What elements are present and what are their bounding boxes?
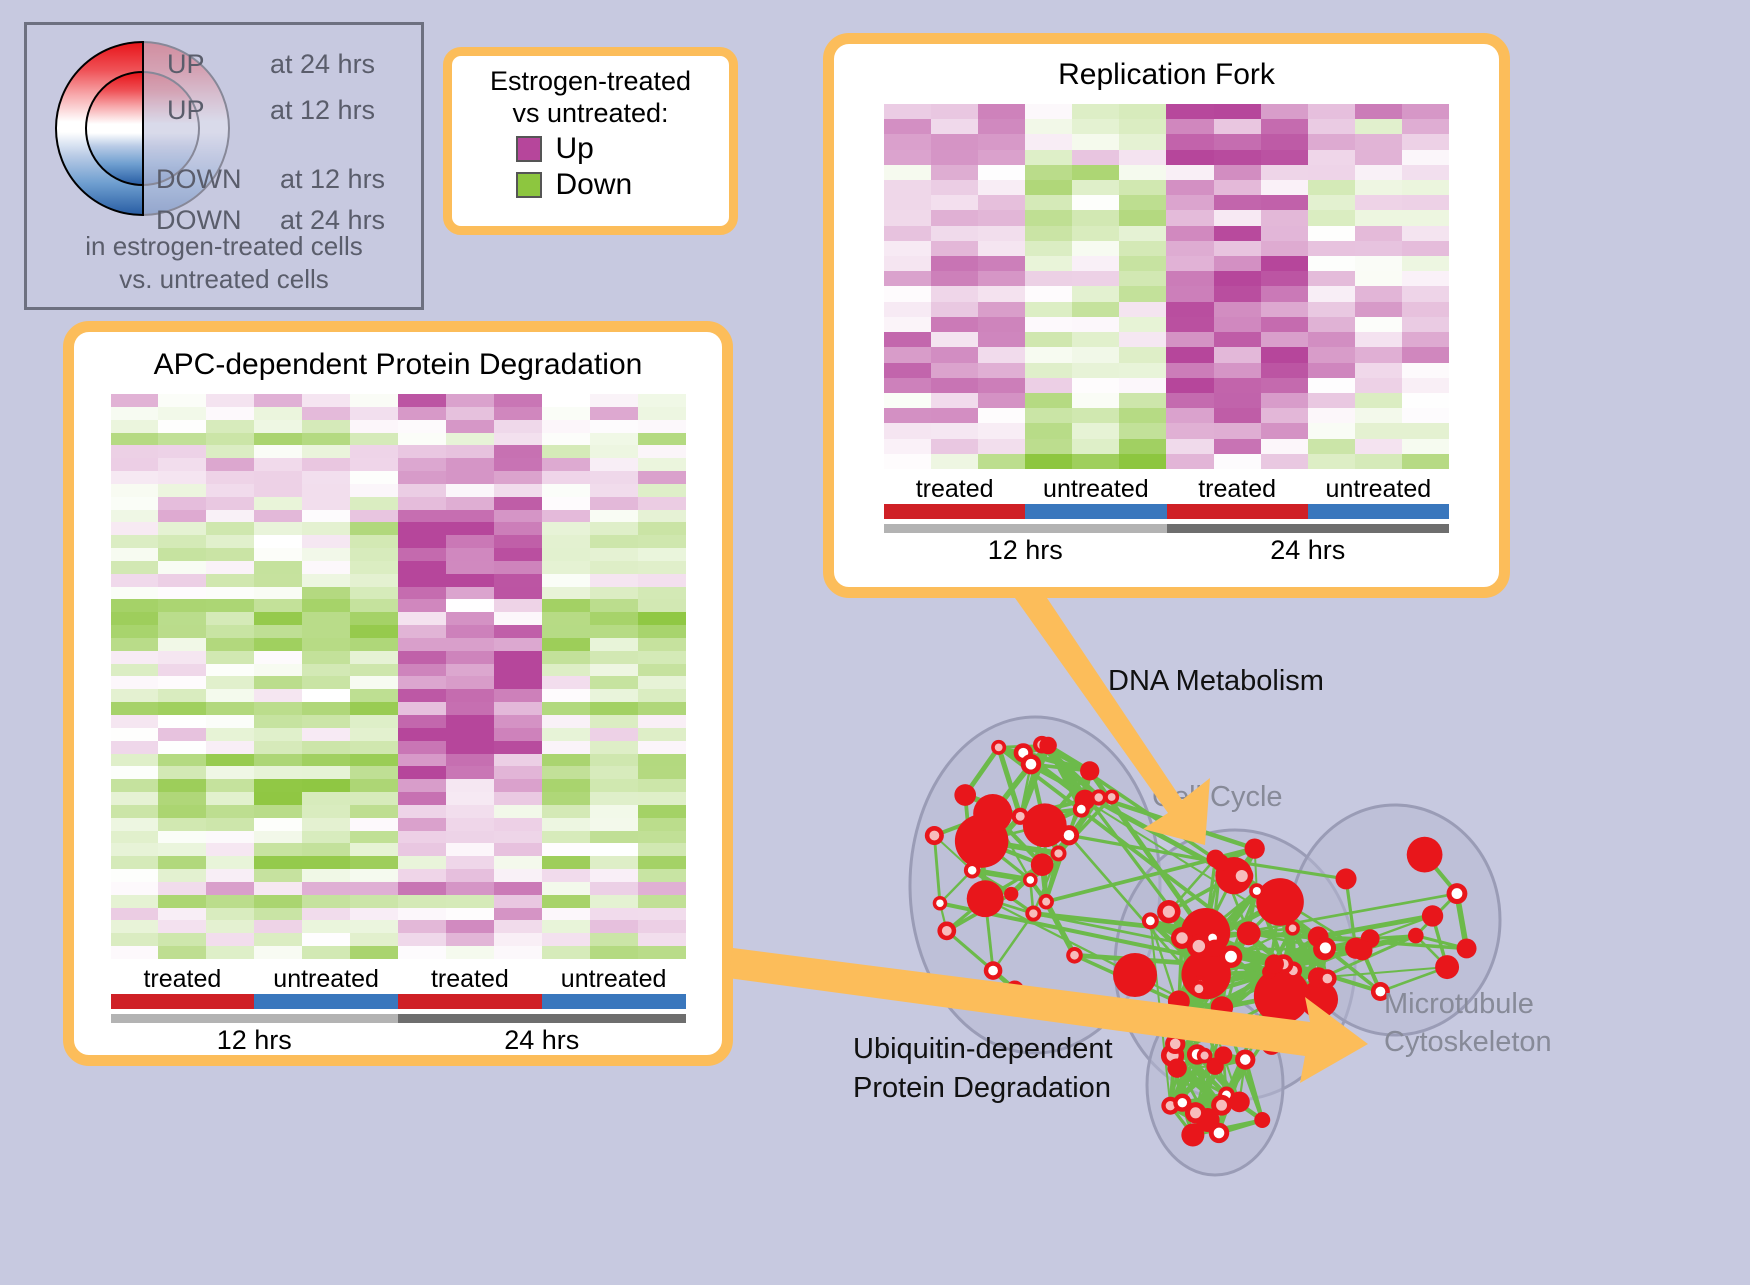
network-node[interactable] xyxy=(1352,940,1372,960)
heatmap-cell xyxy=(494,433,542,446)
heatmap-cell xyxy=(978,241,1025,256)
heatmap-cell xyxy=(1166,363,1213,378)
network-node[interactable] xyxy=(1113,953,1157,997)
heatmap-cell xyxy=(111,638,159,651)
network-node[interactable] xyxy=(1023,803,1067,847)
heatmap-cell xyxy=(590,831,638,844)
heatmap-cell xyxy=(158,510,206,523)
heatmap-cell xyxy=(111,741,159,754)
heatmap-cell xyxy=(1214,210,1261,225)
heatmap-cell xyxy=(1261,423,1308,438)
network-node[interactable] xyxy=(1038,894,1054,910)
legend-title-line1: Estrogen-treated xyxy=(452,66,729,98)
heatmap-cell xyxy=(1166,317,1213,332)
heatmap-cell xyxy=(302,420,350,433)
node-inner xyxy=(942,926,952,936)
node-outer xyxy=(1435,955,1459,979)
heatmap-cell xyxy=(254,651,302,664)
heatmap-cell xyxy=(494,587,542,600)
heatmap-cell xyxy=(446,548,494,561)
heatmap-cell xyxy=(111,766,159,779)
heatmap-cell xyxy=(350,497,398,510)
node-inner xyxy=(1320,942,1331,953)
network-node[interactable] xyxy=(1066,947,1083,964)
heatmap-cell xyxy=(1119,363,1166,378)
network-node[interactable] xyxy=(964,862,981,879)
heatmap-cell xyxy=(542,856,590,869)
network-node[interactable] xyxy=(1025,905,1041,921)
heatmap-cell xyxy=(1072,423,1119,438)
network-node[interactable] xyxy=(984,961,1003,980)
heatmap-cell xyxy=(638,856,686,869)
heatmap-cell xyxy=(350,920,398,933)
heatmap-cell xyxy=(590,856,638,869)
network-node[interactable] xyxy=(1197,1048,1213,1064)
heatmap-cell xyxy=(590,420,638,433)
heatmap-cell xyxy=(590,664,638,677)
key-caption-line1: in estrogen-treated cells xyxy=(27,230,421,263)
heatmap-cell xyxy=(590,702,638,715)
heatmap-cell xyxy=(1402,180,1449,195)
heatmap-cell xyxy=(1402,317,1449,332)
heatmap-cell xyxy=(494,933,542,946)
network-node[interactable] xyxy=(1435,955,1459,979)
network-node[interactable] xyxy=(1408,928,1424,944)
heatmap-cell xyxy=(302,843,350,856)
network-node[interactable] xyxy=(1261,1034,1281,1054)
heatmap-cell xyxy=(446,420,494,433)
heatmap-cell xyxy=(398,407,446,420)
heatmap-cell xyxy=(638,869,686,882)
heatmap-cell xyxy=(590,779,638,792)
heatmap-cell xyxy=(494,394,542,407)
heatmap-cell xyxy=(398,574,446,587)
heatmap-cell xyxy=(1355,423,1402,438)
heatmap-cell xyxy=(206,805,254,818)
node-inner xyxy=(1077,805,1086,814)
heatmap-cell xyxy=(350,612,398,625)
network-node[interactable] xyxy=(1080,761,1099,780)
heatmap-cell xyxy=(1025,271,1072,286)
network-node[interactable] xyxy=(1447,883,1468,904)
heatmap-cell xyxy=(111,831,159,844)
network-node[interactable] xyxy=(1006,980,1024,998)
network-node[interactable] xyxy=(1237,921,1261,945)
heatmap-cell xyxy=(542,535,590,548)
heatmap-cell xyxy=(302,715,350,728)
heatmap-cell xyxy=(158,792,206,805)
heatmap-cell xyxy=(494,882,542,895)
heatmap-cell xyxy=(638,818,686,831)
heatmap-cell xyxy=(638,920,686,933)
network-node[interactable] xyxy=(1254,1112,1270,1128)
network-node[interactable] xyxy=(1315,937,1336,958)
network-node[interactable] xyxy=(1245,839,1265,859)
heatmap-cell xyxy=(350,818,398,831)
node-outer xyxy=(1039,737,1057,755)
heatmap-cell xyxy=(1355,347,1402,362)
heatmap-cell xyxy=(158,908,206,921)
heatmap-cell xyxy=(1166,271,1213,286)
heatmap-cell xyxy=(111,715,159,728)
network-node[interactable] xyxy=(1256,878,1304,926)
heatmap-cell xyxy=(1261,165,1308,180)
network-node[interactable] xyxy=(1211,1095,1232,1116)
heatmap-cell xyxy=(1308,317,1355,332)
heatmap-cell xyxy=(206,548,254,561)
heatmap-cell xyxy=(638,895,686,908)
heatmap-cell xyxy=(206,869,254,882)
network-node[interactable] xyxy=(1249,883,1264,898)
heatmap-cell xyxy=(884,134,931,149)
network-node[interactable] xyxy=(1457,939,1477,959)
heatmap-cell xyxy=(931,271,978,286)
heatmap-cell xyxy=(158,702,206,715)
network-node[interactable] xyxy=(1167,1058,1186,1077)
network-node[interactable] xyxy=(1285,921,1300,936)
heatmap-cell xyxy=(638,766,686,779)
heatmap-cell xyxy=(638,882,686,895)
heatmap-cell xyxy=(111,805,159,818)
node-outer xyxy=(1023,803,1067,847)
heatmap-cell xyxy=(206,689,254,702)
heatmap-cell xyxy=(978,165,1025,180)
network-node[interactable] xyxy=(1235,1049,1255,1069)
heatmap-cell xyxy=(1119,393,1166,408)
heatmap-cell xyxy=(978,408,1025,423)
heatmap-cell xyxy=(1214,423,1261,438)
heatmap-cell xyxy=(254,946,302,959)
network-node[interactable] xyxy=(933,896,947,910)
heatmap-cell xyxy=(542,933,590,946)
heatmap-cell xyxy=(398,741,446,754)
network-node[interactable] xyxy=(1142,912,1159,929)
node-outer xyxy=(1336,868,1357,889)
legend-label-down: Down xyxy=(556,168,666,202)
heatmap-cell xyxy=(1166,226,1213,241)
heatmap-cell xyxy=(638,843,686,856)
heatmap-cell xyxy=(1025,226,1072,241)
heatmap-cell xyxy=(931,408,978,423)
heatmap-cell xyxy=(1166,347,1213,362)
cluster-label-microtubule: Microtubule xyxy=(1384,988,1534,1021)
heatmap-cell xyxy=(158,420,206,433)
heatmap-cell xyxy=(111,458,159,471)
heatmap-cell xyxy=(1119,408,1166,423)
heatmap-cell xyxy=(1025,180,1072,195)
heatmap-cell xyxy=(978,180,1025,195)
heatmap-cell xyxy=(542,497,590,510)
heatmap-cell xyxy=(158,535,206,548)
heatmap-cell xyxy=(1308,180,1355,195)
heatmap-cell xyxy=(542,869,590,882)
network-node[interactable] xyxy=(1220,945,1243,968)
network-node[interactable] xyxy=(967,880,1004,917)
heatmap-cell xyxy=(1072,180,1119,195)
heatmap-cell xyxy=(350,766,398,779)
network-node[interactable] xyxy=(1229,1091,1250,1112)
heatmap-cell xyxy=(446,561,494,574)
network-node[interactable] xyxy=(1157,900,1180,923)
heatmap-cell xyxy=(350,843,398,856)
condition-label: treated xyxy=(884,475,1025,504)
heatmap-cell xyxy=(302,895,350,908)
network-node[interactable] xyxy=(937,921,956,940)
heatmap-cell xyxy=(1355,180,1402,195)
node-outer xyxy=(1080,761,1099,780)
heatmap-cell xyxy=(1355,256,1402,271)
node-inner xyxy=(1214,1128,1225,1139)
heatmap-cell xyxy=(111,535,159,548)
node-outer xyxy=(1167,1058,1186,1077)
heatmap-cell xyxy=(884,332,931,347)
heatmap-cell xyxy=(1166,195,1213,210)
heatmap-cell xyxy=(978,363,1025,378)
heatmap-cell xyxy=(978,393,1025,408)
node-inner xyxy=(968,866,977,875)
heatmap-cell xyxy=(1072,317,1119,332)
heatmap-cell xyxy=(158,394,206,407)
heatmap-cell xyxy=(1261,210,1308,225)
heatmap-cell xyxy=(158,484,206,497)
heatmap-cell xyxy=(111,895,159,908)
heatmap-cell xyxy=(206,625,254,638)
heatmap-cell xyxy=(590,574,638,587)
heatmap-cell xyxy=(254,728,302,741)
key-caption-line2: vs. untreated cells xyxy=(27,263,421,296)
heatmap-cell xyxy=(206,664,254,677)
panel-title-apc: APC-dependent Protein Degradation xyxy=(74,348,722,382)
heatmap-cell xyxy=(494,471,542,484)
network-node[interactable] xyxy=(1004,887,1018,901)
heatmap-cell xyxy=(1308,378,1355,393)
heatmap-cell xyxy=(158,676,206,689)
heatmap-cell xyxy=(884,363,931,378)
heatmap-cell xyxy=(1072,332,1119,347)
network-node[interactable] xyxy=(1407,837,1443,873)
key-dir-0: UP xyxy=(167,49,205,80)
heatmap-cell xyxy=(931,423,978,438)
node-outer xyxy=(973,794,1012,833)
heatmap-cell xyxy=(884,408,931,423)
heatmap-cell xyxy=(931,286,978,301)
heatmap-cell xyxy=(158,856,206,869)
heatmap-cell xyxy=(302,882,350,895)
heatmap-cell xyxy=(542,638,590,651)
key-time-0: at 24 hrs xyxy=(270,49,375,80)
heatmap-cell xyxy=(884,286,931,301)
node-inner xyxy=(929,831,939,841)
heatmap-cell xyxy=(398,471,446,484)
heatmap-cell xyxy=(542,754,590,767)
heatmap-cell xyxy=(931,119,978,134)
heatmap-cell xyxy=(1214,241,1261,256)
heatmap-cell xyxy=(1308,256,1355,271)
heatmap-cell xyxy=(446,818,494,831)
heatmap-cell xyxy=(638,522,686,535)
time-labels-replication-fork: 12 hrs24 hrs xyxy=(884,535,1449,566)
network-node[interactable] xyxy=(1211,996,1233,1018)
network-node[interactable] xyxy=(1214,1046,1232,1064)
heatmap-cell xyxy=(158,869,206,882)
heatmap-cell xyxy=(1166,454,1213,469)
heatmap-cell xyxy=(494,676,542,689)
heatmap-cell xyxy=(1214,195,1261,210)
heatmap-cell xyxy=(206,574,254,587)
condition-color-block xyxy=(1308,504,1449,519)
heatmap-cell xyxy=(1261,180,1308,195)
heatmap-apc xyxy=(111,394,686,959)
panel-title-replication-fork: Replication Fork xyxy=(834,58,1499,92)
heatmap-cell xyxy=(590,676,638,689)
heatmap-cell xyxy=(1214,286,1261,301)
heatmap-cell xyxy=(446,689,494,702)
heatmap-cell xyxy=(254,754,302,767)
network-node[interactable] xyxy=(925,826,944,845)
heatmap-cell xyxy=(350,548,398,561)
cluster-label-ubiquitin-line1: Ubiquitin-dependent xyxy=(853,1033,1113,1066)
network-node[interactable] xyxy=(1165,1034,1185,1054)
heatmap-cell xyxy=(1214,256,1261,271)
heatmap-cell xyxy=(931,439,978,454)
heatmap-cell xyxy=(206,535,254,548)
heatmap-cell xyxy=(302,779,350,792)
heatmap-cell xyxy=(542,599,590,612)
heatmap-cell xyxy=(1261,256,1308,271)
heatmap-cell xyxy=(446,766,494,779)
node-inner xyxy=(1240,1054,1251,1065)
heatmap-cell xyxy=(1119,134,1166,149)
heatmap-cell xyxy=(158,728,206,741)
network-node[interactable] xyxy=(1031,853,1054,876)
network-node[interactable] xyxy=(1073,801,1090,818)
heatmap-cell xyxy=(494,561,542,574)
network-node[interactable] xyxy=(1190,980,1207,997)
heatmap-cell xyxy=(542,433,590,446)
heatmap-cell xyxy=(206,702,254,715)
heatmap-cell xyxy=(638,754,686,767)
heatmap-cell xyxy=(590,638,638,651)
heatmap-cell xyxy=(1355,332,1402,347)
heatmap-cell xyxy=(158,587,206,600)
heatmap-cell xyxy=(446,612,494,625)
heatmap-cell xyxy=(638,741,686,754)
heatmap-cell xyxy=(254,882,302,895)
network-node[interactable] xyxy=(1059,825,1079,845)
heatmap-cell xyxy=(1308,423,1355,438)
network-node[interactable] xyxy=(1012,808,1029,825)
heatmap-cell xyxy=(884,210,931,225)
heatmap-cell xyxy=(1166,256,1213,271)
heatmap-cell xyxy=(111,445,159,458)
network-node[interactable] xyxy=(1021,754,1041,774)
network-node[interactable] xyxy=(1173,1094,1191,1112)
network-node[interactable] xyxy=(1023,873,1038,888)
heatmap-cell xyxy=(1072,119,1119,134)
heatmap-cell xyxy=(446,638,494,651)
network-node[interactable] xyxy=(1254,968,1310,1024)
network-node[interactable] xyxy=(1318,969,1337,988)
cluster-label-dna-metabolism: DNA Metabolism xyxy=(1108,665,1324,698)
heatmap-cell xyxy=(158,471,206,484)
heatmap-cell xyxy=(254,471,302,484)
node-inner xyxy=(1146,916,1155,925)
heatmap-cell xyxy=(1402,256,1449,271)
network-node[interactable] xyxy=(1167,1003,1190,1026)
heatmap-cell xyxy=(398,869,446,882)
heatmap-cell xyxy=(590,484,638,497)
heatmap-cell xyxy=(931,165,978,180)
heatmap-cell xyxy=(590,522,638,535)
heatmap-cell xyxy=(302,741,350,754)
heatmap-cell xyxy=(542,471,590,484)
heatmap-cell xyxy=(978,302,1025,317)
heatmap-cell xyxy=(1214,150,1261,165)
heatmap-cell xyxy=(206,933,254,946)
network-node[interactable] xyxy=(1171,927,1193,949)
heatmap-cell xyxy=(978,378,1025,393)
network-node[interactable] xyxy=(954,784,976,806)
network-node[interactable] xyxy=(1265,954,1284,973)
heatmap-cell xyxy=(884,439,931,454)
heatmap-cell xyxy=(931,363,978,378)
heatmap-cell xyxy=(446,497,494,510)
heatmap-cell xyxy=(398,715,446,728)
network-node[interactable] xyxy=(1051,846,1067,862)
network-node[interactable] xyxy=(1207,850,1225,868)
network-node[interactable] xyxy=(1422,905,1443,926)
heatmap-cell xyxy=(590,946,638,959)
heatmap-cell xyxy=(542,702,590,715)
heatmap-cell xyxy=(206,715,254,728)
time-labels-apc: 12 hrs24 hrs xyxy=(111,1025,686,1056)
heatmap-cell xyxy=(302,946,350,959)
network-node[interactable] xyxy=(991,740,1006,755)
heatmap-cell xyxy=(398,612,446,625)
heatmap-cell xyxy=(1025,134,1072,149)
time-bar-apc xyxy=(111,1014,686,1023)
heatmap-cell xyxy=(302,497,350,510)
heatmap-cell xyxy=(446,882,494,895)
heatmap-cell xyxy=(1072,286,1119,301)
network-node[interactable] xyxy=(1039,737,1057,755)
heatmap-cell xyxy=(494,741,542,754)
heatmap-cell xyxy=(1166,423,1213,438)
heatmap-cell xyxy=(350,587,398,600)
node-inner xyxy=(1095,793,1103,801)
heatmap-cell xyxy=(494,407,542,420)
condition-color-block xyxy=(1167,504,1308,519)
heatmap-cell xyxy=(590,728,638,741)
heatmap-cell xyxy=(398,420,446,433)
network-node[interactable] xyxy=(1230,864,1253,887)
heatmap-cell xyxy=(206,818,254,831)
network-node[interactable] xyxy=(1336,868,1357,889)
heatmap-cell xyxy=(398,394,446,407)
network-node[interactable] xyxy=(1091,789,1107,805)
heatmap-cell xyxy=(638,433,686,446)
heatmap-cell xyxy=(1025,423,1072,438)
heatmap-cell xyxy=(350,728,398,741)
heatmap-cell xyxy=(158,818,206,831)
network-node[interactable] xyxy=(973,794,1012,833)
heatmap-cell xyxy=(254,420,302,433)
node-inner xyxy=(1176,932,1187,943)
heatmap-cell xyxy=(398,497,446,510)
heatmap-cell xyxy=(446,587,494,600)
heatmap-cell xyxy=(931,454,978,469)
heatmap-cell xyxy=(398,702,446,715)
